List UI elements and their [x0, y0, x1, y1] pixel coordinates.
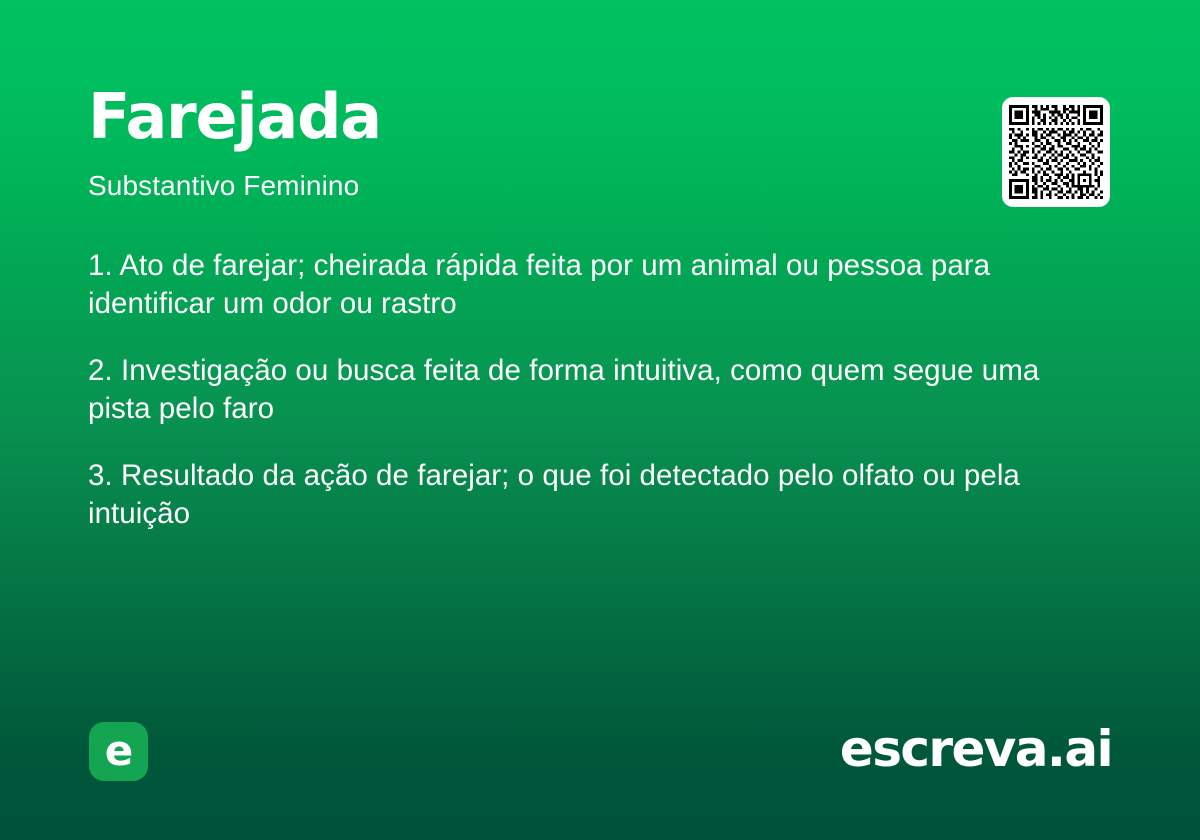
qr-code-icon	[1009, 105, 1103, 199]
dictionary-card: Farejada Substantivo Feminino	[0, 0, 1200, 840]
definition-item-1: 1. Ato de farejar; cheirada rápida feita…	[88, 247, 1098, 323]
header-block: Farejada Substantivo Feminino	[88, 86, 948, 200]
qr-code-card[interactable]	[1002, 97, 1110, 207]
logo-letter: e	[105, 730, 133, 772]
definition-list: 1. Ato de farejar; cheirada rápida feita…	[88, 247, 1098, 533]
word-class-label: Substantivo Feminino	[88, 172, 948, 200]
escreva-logo-icon: e	[89, 722, 148, 781]
brand-name: escreva.ai	[840, 724, 1112, 774]
definition-item-2: 2. Investigação ou busca feita de forma …	[88, 352, 1098, 428]
definition-item-3: 3. Resultado da ação de farejar; o que f…	[88, 457, 1098, 533]
page-title: Farejada	[88, 86, 948, 148]
